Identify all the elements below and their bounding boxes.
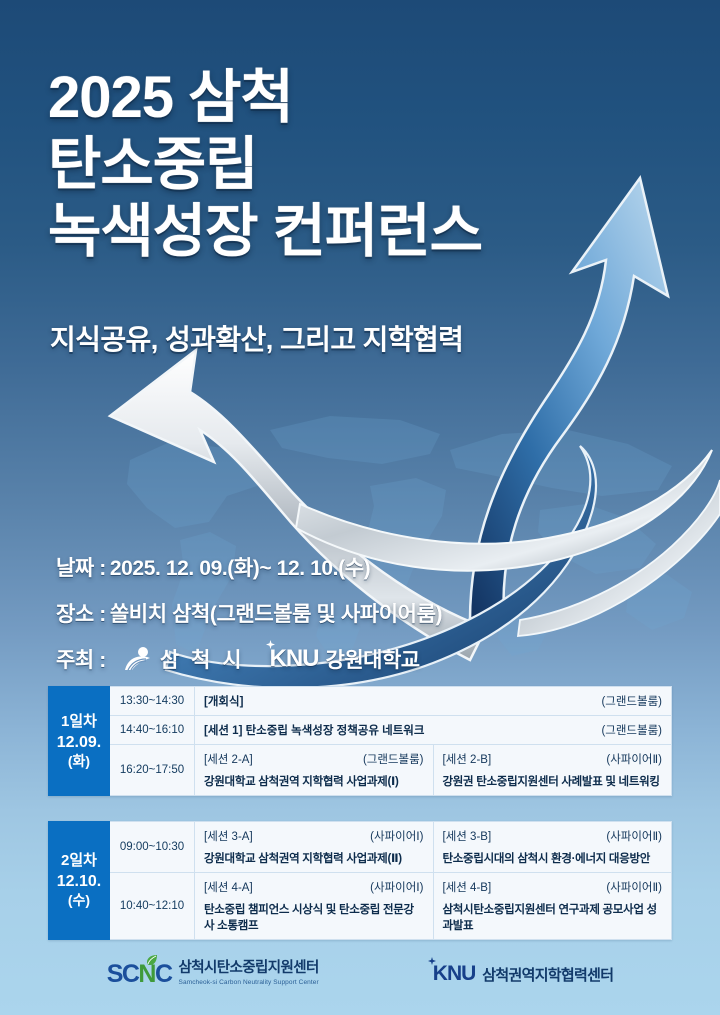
session-header: [세션 3-A] (사파이어Ⅰ)	[204, 828, 424, 844]
session-cell: [세션 2-A] (그랜드볼룸) 강원대학교 삼척권역 지학협력 사업과제(Ⅰ)	[195, 745, 434, 796]
knu-footer-logo: KNU 삼척권역지학협력센터	[429, 962, 614, 986]
scnc-mark-sc: SC	[107, 960, 139, 988]
schedule-table-day1: 1일차 12.09. (화) 13:30~14:30 [개회식] (그랜드볼룸)…	[48, 686, 672, 796]
knu-wordmark: KNU	[267, 645, 319, 673]
day-number: 2일차	[51, 852, 107, 870]
table-row: 16:20~17:50 [세션 2-A] (그랜드볼룸) 강원대학교 삼척권역 …	[49, 745, 672, 796]
session-cell: [세션 3-B] (사파이어Ⅱ) 탄소중립시대의 삼척시 환경·에너지 대응방안	[433, 822, 672, 873]
session-room: (그랜드볼룸)	[363, 751, 424, 767]
session-header: [세션 1] 탄소중립 녹색성장 정책공유 네트워크 (그랜드볼룸)	[204, 722, 662, 738]
session-name: [세션 2-B]	[443, 751, 492, 767]
session-cell: [세션 4-B] (사파이어Ⅱ) 삼척시탄소중립지원센터 연구과제 공모사업 성…	[433, 873, 672, 940]
knu-mark-text: KNU	[270, 645, 319, 672]
session-room: (사파이어Ⅰ)	[370, 879, 423, 895]
session-name: [세션 1] 탄소중립 녹색성장 정책공유 네트워크	[204, 722, 424, 738]
scnc-wordmark: SCNC	[107, 960, 172, 989]
session-room: (사파이어Ⅱ)	[606, 751, 662, 767]
knu-footer-wordmark: KNU	[429, 962, 476, 986]
knu-footer-center-name: 삼척권역지학협력센터	[482, 964, 613, 985]
info-place-row: 장소 : 쏠비치 삼척(그랜드볼룸 및 사파이어룸)	[56, 598, 442, 628]
session-room: (그랜드볼룸)	[601, 693, 662, 709]
schedule-table-day2: 2일차 12.10. (수) 09:00~10:30 [세션 3-A] (사파이…	[48, 821, 672, 940]
day-date: 12.10.	[51, 873, 107, 892]
knu-logo: KNU 강원대학교	[267, 644, 420, 674]
session-name: [세션 3-B]	[443, 828, 492, 844]
place-label: 장소 :	[56, 598, 106, 628]
knu-university-name: 강원대학교	[326, 644, 420, 674]
day-weekday: (수)	[51, 892, 107, 909]
sparkle-icon	[428, 957, 436, 965]
day-date: 12.09.	[51, 734, 107, 753]
knu-footer-mark-text: KNU	[433, 962, 476, 985]
session-name: [세션 3-A]	[204, 828, 253, 844]
session-description: 삼척시탄소중립지원센터 연구과제 공모사업 성과발표	[443, 901, 663, 933]
time-cell: 09:00~10:30	[110, 822, 195, 873]
session-name: [세션 2-A]	[204, 751, 253, 767]
samcheok-city-name: 삼 척 시	[160, 644, 245, 674]
info-date-row: 날짜 : 2025. 12. 09.(화)~ 12. 10.(수)	[56, 552, 442, 582]
session-header: [세션 2-B] (사파이어Ⅱ)	[443, 751, 663, 767]
poster-root: 2025 삼척 탄소중립 녹색성장 컨퍼런스 지식공유, 성과확산, 그리고 지…	[0, 0, 720, 1015]
session-cell: [세션 2-B] (사파이어Ⅱ) 강원권 탄소중립지원센터 사례발표 및 네트워…	[433, 745, 672, 796]
day-weekday: (화)	[51, 753, 107, 770]
title-line-3: 녹색성장 컨퍼런스	[48, 202, 648, 261]
scnc-name-ko: 삼척시탄소중립지원센터	[179, 961, 319, 977]
session-description: 강원권 탄소중립지원센터 사례발표 및 네트워킹	[443, 773, 663, 789]
session-cell: [세션 4-A] (사파이어Ⅰ) 탄소중립 챔피언스 시상식 및 탄소중립 전문…	[195, 873, 434, 940]
session-description: 강원대학교 삼척권역 지학협력 사업과제(Ⅱ)	[204, 850, 424, 866]
session-header: [세션 4-B] (사파이어Ⅱ)	[443, 879, 663, 895]
date-value: 2025. 12. 09.(화)~ 12. 10.(수)	[110, 552, 370, 582]
info-host-row: 주최 : 삼 척 시	[56, 644, 442, 674]
table-row: 10:40~12:10 [세션 4-A] (사파이어Ⅰ) 탄소중립 챔피언스 시…	[49, 873, 672, 940]
title-line-1: 2025 삼척	[48, 68, 648, 127]
session-room: (사파이어Ⅱ)	[606, 879, 662, 895]
session-name: [세션 4-A]	[204, 879, 253, 895]
session-header: [세션 4-A] (사파이어Ⅰ)	[204, 879, 424, 895]
samcheok-city-logo: 삼 척 시	[124, 644, 245, 674]
day-label-cell-day2: 2일차 12.10. (수)	[49, 822, 110, 940]
place-value: 쏠비치 삼척(그랜드볼룸 및 사파이어룸)	[110, 598, 442, 628]
event-info-block: 날짜 : 2025. 12. 09.(화)~ 12. 10.(수) 장소 : 쏠…	[56, 552, 442, 674]
time-cell: 10:40~12:10	[110, 873, 195, 940]
footer-logos: SCNC 삼척시탄소중립지원센터 Samcheok-si Carbon Neut…	[0, 946, 720, 1002]
host-label: 주최 :	[56, 644, 106, 674]
scnc-name-block: 삼척시탄소중립지원센터 Samcheok-si Carbon Neutralit…	[179, 961, 319, 986]
session-description: 탄소중립 챔피언스 시상식 및 탄소중립 전문강사 소통캠프	[204, 901, 424, 933]
scnc-name-en: Samcheok-si Carbon Neutrality Support Ce…	[179, 979, 319, 986]
session-room: (사파이어Ⅰ)	[370, 828, 423, 844]
session-name: [개회식]	[204, 693, 243, 709]
subtitle: 지식공유, 성과확산, 그리고 지학협력	[50, 318, 463, 358]
session-room: (그랜드볼룸)	[601, 722, 662, 738]
title-line-2: 탄소중립	[48, 135, 648, 194]
sparkle-icon	[266, 640, 275, 649]
scnc-logo: SCNC 삼척시탄소중립지원센터 Samcheok-si Carbon Neut…	[107, 960, 319, 989]
date-label: 날짜 :	[56, 552, 106, 582]
session-description: 강원대학교 삼척권역 지학협력 사업과제(Ⅰ)	[204, 773, 424, 789]
table-row: 14:40~16:10 [세션 1] 탄소중립 녹색성장 정책공유 네트워크 (…	[49, 716, 672, 745]
session-header: [세션 3-B] (사파이어Ⅱ)	[443, 828, 663, 844]
session-room: (사파이어Ⅱ)	[606, 828, 662, 844]
session-cell: [개회식] (그랜드볼룸)	[195, 687, 672, 716]
day-label-cell-day1: 1일차 12.09. (화)	[49, 687, 110, 796]
schedule-section: 1일차 12.09. (화) 13:30~14:30 [개회식] (그랜드볼룸)…	[48, 686, 672, 940]
session-cell: [세션 1] 탄소중립 녹색성장 정책공유 네트워크 (그랜드볼룸)	[195, 716, 672, 745]
page-title: 2025 삼척 탄소중립 녹색성장 컨퍼런스	[48, 68, 648, 261]
table-row: 2일차 12.10. (수) 09:00~10:30 [세션 3-A] (사파이…	[49, 822, 672, 873]
time-cell: 13:30~14:30	[110, 687, 195, 716]
session-description: 탄소중립시대의 삼척시 환경·에너지 대응방안	[443, 850, 663, 866]
day-number: 1일차	[51, 713, 107, 731]
session-header: [세션 2-A] (그랜드볼룸)	[204, 751, 424, 767]
time-cell: 16:20~17:50	[110, 745, 195, 796]
samcheok-emblem-icon	[124, 646, 154, 672]
table-row: 1일차 12.09. (화) 13:30~14:30 [개회식] (그랜드볼룸)	[49, 687, 672, 716]
session-name: [세션 4-B]	[443, 879, 492, 895]
leaf-icon	[146, 954, 158, 966]
session-header: [개회식] (그랜드볼룸)	[204, 693, 662, 709]
session-cell: [세션 3-A] (사파이어Ⅰ) 강원대학교 삼척권역 지학협력 사업과제(Ⅱ)	[195, 822, 434, 873]
time-cell: 14:40~16:10	[110, 716, 195, 745]
